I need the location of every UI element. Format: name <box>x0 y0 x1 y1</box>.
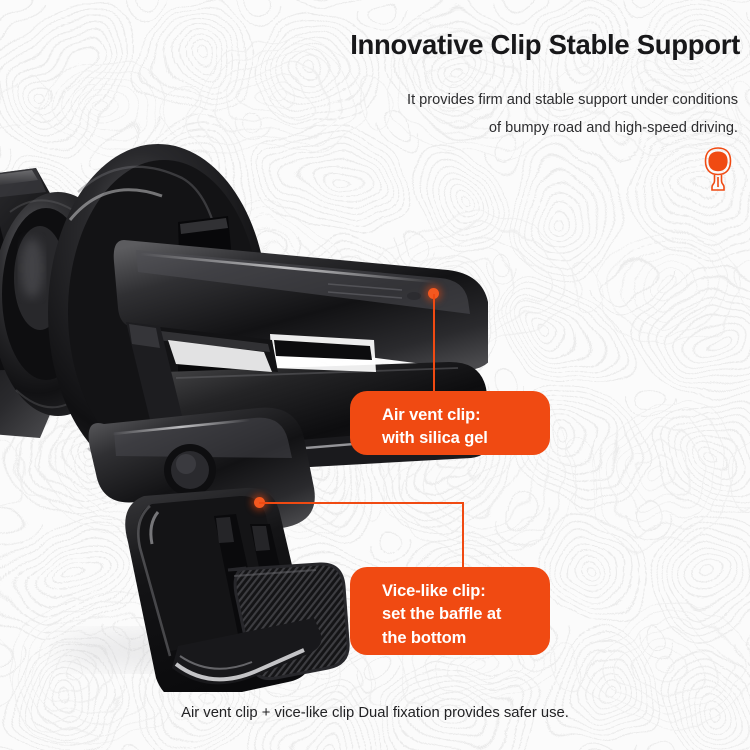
callout-2-line-3: the bottom <box>382 627 550 650</box>
car-phone-mount-icon <box>701 146 735 192</box>
callout-2-line-1: Vice-like clip: <box>382 580 550 603</box>
callout-2-leader-line-horizontal <box>259 502 464 504</box>
page-subtitle: It provides firm and stable support unde… <box>300 86 738 143</box>
callout-2-line-2: set the baffle at <box>382 603 550 626</box>
subtitle-line-2: of bumpy road and high-speed driving. <box>300 114 738 142</box>
callout-vice-like-clip: Vice-like clip: set the baffle at the bo… <box>350 567 550 655</box>
callout-1-line-2: with silica gel <box>382 427 550 450</box>
footer-caption: Air vent clip + vice-like clip Dual fixa… <box>0 705 750 721</box>
subtitle-line-1: It provides firm and stable support unde… <box>300 86 738 114</box>
page-title: Innovative Clip Stable Support <box>240 28 740 61</box>
callout-2-leader-line-vertical <box>462 502 464 568</box>
infographic-canvas: Innovative Clip Stable Support It provid… <box>0 0 750 750</box>
callout-1-leader-line <box>433 294 435 392</box>
callout-1-line-1: Air vent clip: <box>382 404 550 427</box>
callout-air-vent-clip: Air vent clip: with silica gel <box>350 391 550 455</box>
